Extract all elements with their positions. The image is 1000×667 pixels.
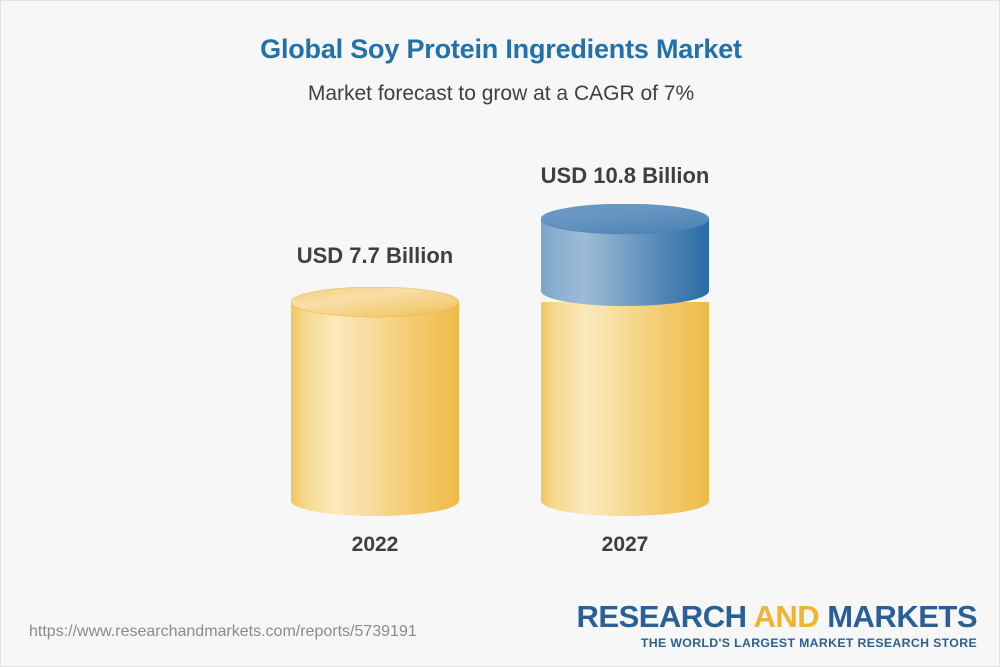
logo-tagline: THE WORLD'S LARGEST MARKET RESEARCH STOR… xyxy=(577,637,978,649)
data-label-2027: USD 10.8 Billion xyxy=(475,163,775,189)
data-label-2022: USD 7.7 Billion xyxy=(225,243,525,269)
logo-and-text: AND xyxy=(753,599,827,634)
logo-research-text: RESEARCH xyxy=(577,599,754,634)
logo-markets-text: MARKETS xyxy=(827,599,977,634)
cylinder-2027-growth xyxy=(541,204,709,322)
plot-area: USD 7.7 Billion xyxy=(1,1,1000,667)
source-url[interactable]: https://www.researchandmarkets.com/repor… xyxy=(29,623,417,641)
chart-poster: Global Soy Protein Ingredients Market Ma… xyxy=(0,0,1000,667)
research-and-markets-logo[interactable]: RESEARCH AND MARKETS THE WORLD'S LARGEST… xyxy=(577,601,978,649)
logo-wordmark: RESEARCH AND MARKETS xyxy=(577,601,978,632)
cylinder-2027-base xyxy=(541,287,709,531)
cylinder-2022 xyxy=(291,287,459,531)
bar-2027: USD 10.8 Billion xyxy=(541,1,709,667)
bar-2022: USD 7.7 Billion xyxy=(291,1,459,667)
category-label-2027: 2027 xyxy=(541,533,709,557)
category-label-2022: 2022 xyxy=(291,533,459,557)
